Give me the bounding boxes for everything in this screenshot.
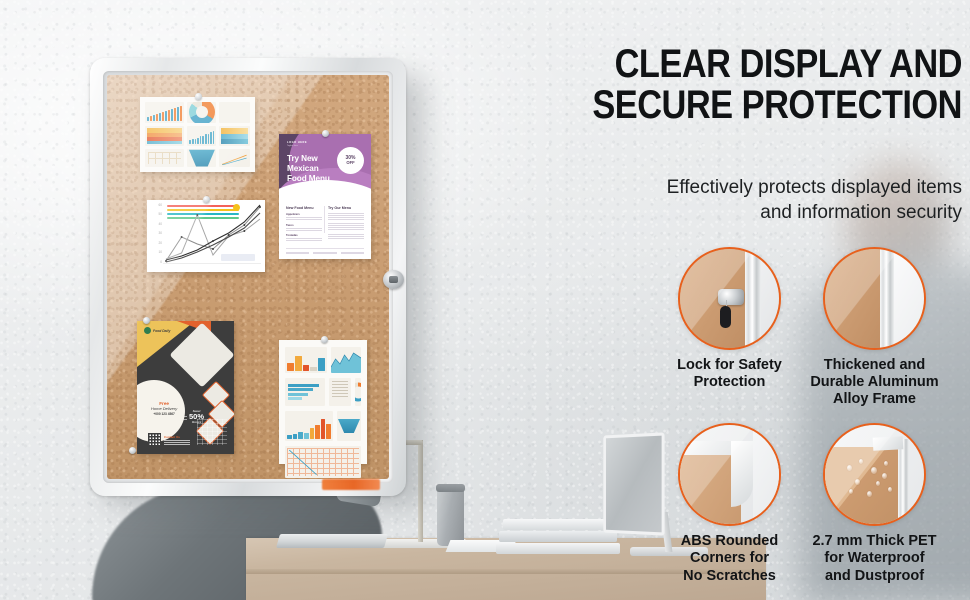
- badge-off: OFF: [346, 161, 354, 166]
- push-pin: [203, 196, 210, 203]
- contact-label: Contact Us: [164, 435, 190, 439]
- chart-grid-heat: [145, 149, 184, 167]
- feature-abs-rounded-corners: ABS Rounded Corners for No Scratches: [657, 423, 802, 584]
- menu-item: Tostadas: [286, 234, 322, 241]
- menu-item: [328, 223, 364, 230]
- subheadline-line-1: Effectively protects displayed items: [522, 175, 962, 200]
- feature-label-line: No Scratches: [659, 568, 801, 585]
- feature-label-line: Thickened and: [804, 357, 946, 374]
- chart-donut: [187, 102, 216, 123]
- notice-board: 60 50 40 30 20 10 0: [90, 58, 406, 496]
- feature-image-droplets: [823, 423, 926, 526]
- brand-badge: [322, 479, 380, 490]
- menu-divider: [324, 206, 325, 233]
- feature-label: 2.7 mm Thick PET for Waterproof and Dust…: [804, 533, 946, 584]
- marketing-content: CLEAR DISPLAY AND SECURE PROTECTION Effe…: [492, 0, 970, 600]
- push-pin: [129, 447, 136, 454]
- feature-label-line: and Dustproof: [804, 568, 946, 585]
- feature-label: ABS Rounded Corners for No Scratches: [659, 533, 801, 584]
- y-tick: 20: [150, 242, 162, 245]
- feature-image-corner: [678, 423, 781, 526]
- feature-pet-waterproof: 2.7 mm Thick PET for Waterproof and Dust…: [802, 423, 947, 584]
- feature-image-frame: [823, 247, 926, 350]
- chart-text-lines: [329, 378, 351, 406]
- menu-logo: LOGO HERE Tagline here: [287, 141, 307, 147]
- feature-label-line: ABS Rounded: [659, 533, 801, 550]
- menu-column-heading: Try Our Menu: [328, 206, 364, 210]
- page-subtitle: Effectively protects displayed items and…: [522, 175, 962, 226]
- posted-document-dashboard: [140, 97, 255, 172]
- chart-grid-lines: [285, 446, 361, 478]
- menu-logo-tagline: Tagline here: [287, 145, 307, 147]
- chart-area-stacked: [145, 126, 184, 147]
- chart-annotation-box: [221, 254, 255, 261]
- chart-y-axis: 60 50 40 30 20 10 0: [150, 204, 162, 264]
- flyer-brand-name: Food Daily: [153, 329, 170, 333]
- menu-subtext-lines: [287, 186, 337, 191]
- headline-line-1: CLEAR DISPLAY AND: [566, 44, 962, 85]
- feature-aluminum-frame: Thickened and Durable Aluminum Alloy Fra…: [802, 247, 947, 408]
- chart-data-table: [219, 102, 250, 123]
- menu-logo-text: LOGO HERE: [287, 141, 307, 144]
- y-tick: 10: [150, 251, 162, 254]
- chart-area-wave: [331, 347, 361, 373]
- menu-item: [328, 234, 364, 239]
- menu-item: [328, 213, 364, 220]
- chart-ribbon: [219, 126, 250, 147]
- page-title: CLEAR DISPLAY AND SECURE PROTECTION: [566, 44, 962, 126]
- menu-column-right: Try Our Menu: [328, 206, 364, 245]
- y-tick: 40: [150, 223, 162, 226]
- menu-item: Tacos: [286, 224, 322, 231]
- menu-title-line: Try New: [287, 154, 330, 164]
- flyer-logo-mark-icon: [144, 327, 151, 334]
- cork-surface: 60 50 40 30 20 10 0: [107, 75, 389, 479]
- chart-trend: [219, 149, 250, 167]
- menu-column-left: New Food Menu Appetizers Tacos Tostadas: [286, 206, 322, 245]
- menu-column-heading: New Food Menu: [286, 206, 322, 210]
- y-tick: 0: [150, 261, 162, 264]
- menu-discount-badge: 30% OFF: [337, 147, 364, 174]
- menu-header: LOGO HERE Tagline here Try New Mexican F…: [279, 134, 371, 198]
- chart-bar-growth: [187, 126, 216, 147]
- feature-lock-for-safety: Lock for Safety Protection: [657, 247, 802, 408]
- poster-canvas: 60 50 40 30 20 10 0: [0, 0, 970, 600]
- tumbler-lid: [436, 484, 465, 492]
- chart-waterfall: [285, 347, 327, 373]
- board-lock[interactable]: [383, 270, 404, 289]
- push-pin: [143, 317, 150, 324]
- feature-label-line: Durable Aluminum: [804, 374, 946, 391]
- travel-tumbler: [437, 488, 464, 546]
- menu-title-line: Food Menu: [287, 174, 330, 184]
- menu-item-name: Tostadas: [286, 234, 322, 237]
- menu-footer: [286, 248, 364, 254]
- feature-label-line: Corners for: [659, 550, 801, 567]
- flyer-logo: Food Daily: [144, 327, 170, 334]
- posted-document-report: [279, 340, 367, 464]
- flyer-contact: Contact Us: [164, 435, 190, 446]
- posted-document-line-chart: 60 50 40 30 20 10 0: [147, 200, 265, 272]
- posted-document-food-flyer: Food Daily Delicious Special Food Sweet …: [137, 321, 234, 454]
- menu-item-name: Appetizers: [286, 213, 322, 216]
- y-tick: 50: [150, 213, 162, 216]
- feature-image-lock: [678, 247, 781, 350]
- push-pin: [195, 93, 202, 100]
- chart-funnel: [187, 149, 216, 167]
- headline-line-2: SECURE PROTECTION: [566, 85, 962, 126]
- posted-document-food-menu: LOGO HERE Tagline here Try New Mexican F…: [279, 134, 371, 259]
- feature-label-line: Alloy Frame: [804, 391, 946, 408]
- feature-label-line: for Waterproof: [804, 550, 946, 567]
- chart-bar-series: [145, 102, 184, 123]
- push-pin: [321, 336, 328, 343]
- qr-code-icon: [148, 433, 161, 446]
- menu-body: New Food Menu Appetizers Tacos Tostadas: [279, 198, 371, 245]
- menu-title: Try New Mexican Food Menu: [287, 154, 330, 185]
- menu-title-line: Mexican: [287, 164, 330, 174]
- feature-label-line: Lock for Safety: [659, 357, 801, 374]
- feature-label: Thickened and Durable Aluminum Alloy Fra…: [804, 357, 946, 408]
- delivery-text: Home Delivery: [151, 406, 177, 411]
- y-tick: 30: [150, 232, 162, 235]
- feature-row-bottom: ABS Rounded Corners for No Scratches: [657, 423, 957, 584]
- feature-label-line: Protection: [659, 374, 801, 391]
- flyer-delivery-block: Free Home Delivery +000 123 4567: [151, 401, 177, 416]
- feature-row-top: Lock for Safety Protection: [657, 247, 957, 408]
- notebook: [276, 534, 388, 548]
- chart-funnel-small: [337, 411, 361, 441]
- menu-item-name: Tacos: [286, 224, 322, 227]
- menu-item: Appetizers: [286, 213, 322, 220]
- delivery-phone: +000 123 4567: [151, 412, 177, 416]
- feature-label: Lock for Safety Protection: [659, 357, 801, 391]
- chart-column-series: [285, 411, 333, 441]
- subheadline-line-2: and information security: [522, 200, 962, 225]
- feature-grid: Lock for Safety Protection: [657, 247, 957, 585]
- chart-donut-small: [355, 378, 361, 406]
- push-pin: [322, 130, 329, 137]
- feature-label-line: 2.7 mm Thick PET: [804, 533, 946, 550]
- y-tick: 60: [150, 204, 162, 207]
- flyer-grid-texture: [197, 419, 227, 445]
- chart-horizontal-bars: [285, 378, 325, 406]
